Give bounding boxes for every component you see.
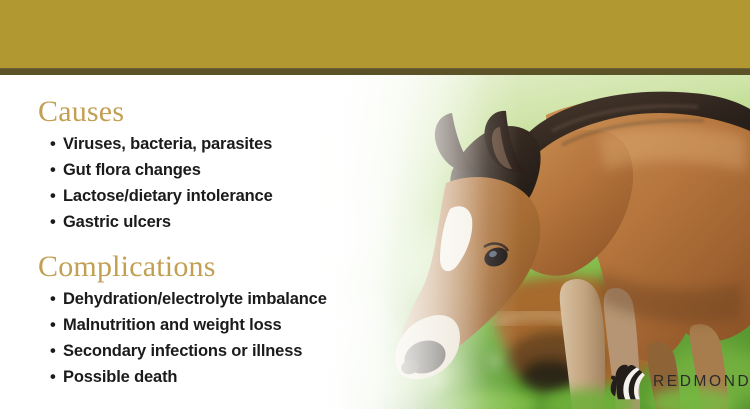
section-complications: Complications • Dehydration/electrolyte … [38, 250, 327, 390]
bullet-icon: • [50, 338, 56, 364]
section-heading-causes: Causes [38, 95, 273, 129]
header-underline-highlight [0, 68, 750, 69]
list-item: • Possible death [63, 364, 327, 390]
list-item: • Gastric ulcers [63, 209, 273, 235]
section-causes: Causes • Viruses, bacteria, parasites • … [38, 95, 273, 235]
list-item-label: Gut flora changes [63, 161, 201, 179]
list-item: • Malnutrition and weight loss [63, 312, 327, 338]
list-item-label: Malnutrition and weight loss [63, 316, 282, 334]
list-item-label: Possible death [63, 368, 177, 386]
bullet-icon: • [50, 364, 56, 390]
list-item: • Gut flora changes [63, 157, 273, 183]
bullet-icon: • [50, 131, 56, 157]
section-heading-complications: Complications [38, 250, 327, 284]
causes-list: • Viruses, bacteria, parasites • Gut flo… [38, 131, 273, 235]
list-item-label: Lactose/dietary intolerance [63, 187, 273, 205]
list-item: • Secondary infections or illness [63, 338, 327, 364]
complications-list: • Dehydration/electrolyte imbalance • Ma… [38, 286, 327, 390]
list-item: • Viruses, bacteria, parasites [63, 131, 273, 157]
bullet-icon: • [50, 209, 56, 235]
logo-wordmark: REDMOND [653, 373, 750, 391]
horse-head-icon [608, 363, 646, 401]
bullet-icon: • [50, 157, 56, 183]
list-item-label: Viruses, bacteria, parasites [63, 135, 272, 153]
bullet-icon: • [50, 312, 56, 338]
bullet-icon: • [50, 183, 56, 209]
header-bar [0, 0, 750, 68]
header-underline [0, 68, 750, 75]
redmond-logo[interactable]: REDMOND [608, 362, 742, 402]
list-item-label: Gastric ulcers [63, 213, 171, 231]
infographic-canvas: What are the Dangers of Foal Diarrhea? C… [0, 0, 750, 409]
content-area: Causes • Viruses, bacteria, parasites • … [0, 75, 470, 409]
list-item: • Dehydration/electrolyte imbalance [63, 286, 327, 312]
list-item-label: Secondary infections or illness [63, 342, 302, 360]
list-item-label: Dehydration/electrolyte imbalance [63, 290, 327, 308]
bullet-icon: • [50, 286, 56, 312]
list-item: • Lactose/dietary intolerance [63, 183, 273, 209]
